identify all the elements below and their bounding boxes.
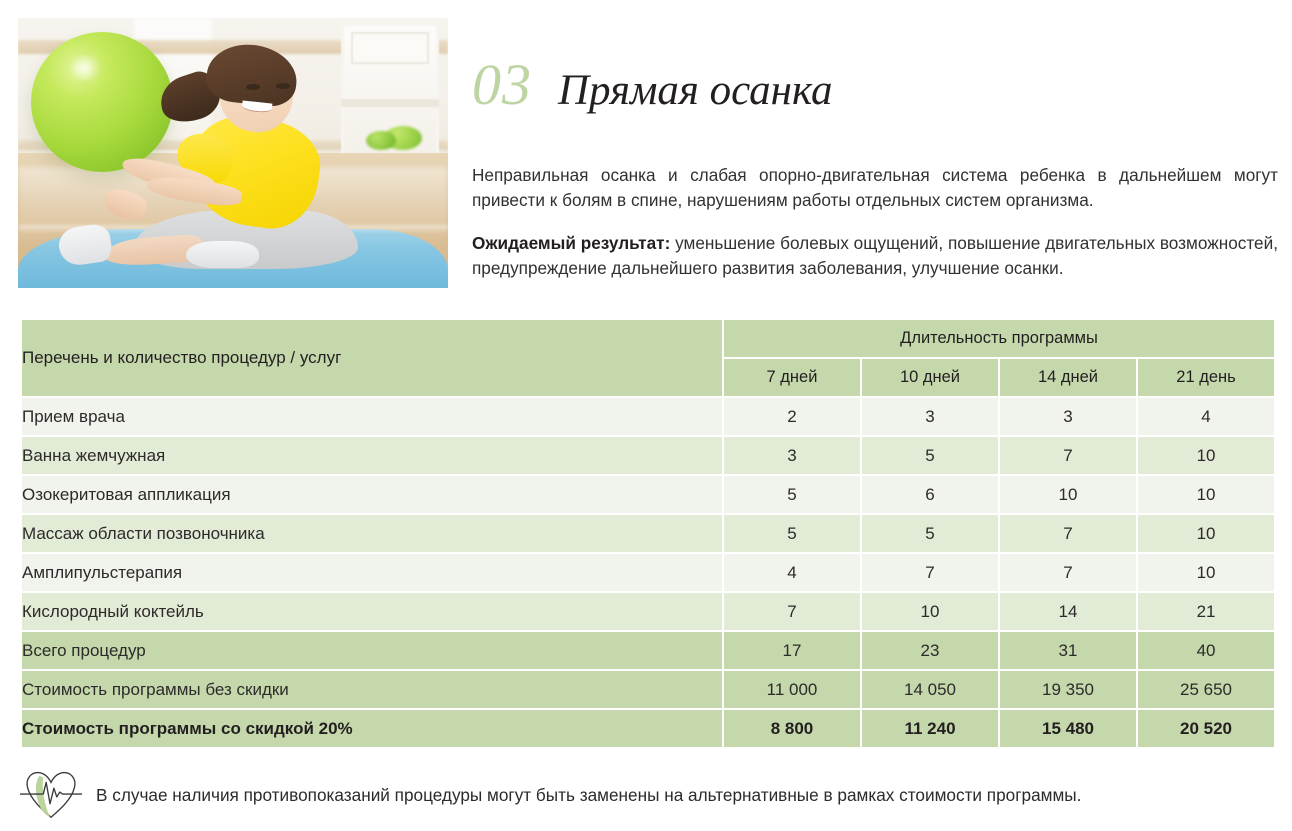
row-value-10: 10 [862,593,998,630]
table-header-col-2: 14 дней [1000,359,1136,396]
row-value-14: 10 [1000,476,1136,513]
table-head: Перечень и количество процедур / услуг Д… [22,320,1274,396]
row-value-10: 14 050 [862,671,998,708]
row-value-14: 7 [1000,515,1136,552]
photo-shelf-divider [341,99,440,107]
row-value-14: 7 [1000,554,1136,591]
footer-note-text: В случае наличия противопоказаний процед… [96,784,1081,806]
row-value-7: 5 [724,515,860,552]
table-row: Массаж области позвоночника 5 5 7 10 [22,515,1274,552]
row-value-21: 10 [1138,515,1274,552]
table-header-col-0: 7 дней [724,359,860,396]
row-value-7: 5 [724,476,860,513]
program-table: Перечень и количество процедур / услуг Д… [20,318,1276,749]
photo-exercise-ball [31,32,173,172]
row-label: Ванна жемчужная [22,437,722,474]
table-row: Ванна жемчужная 3 5 7 10 [22,437,1274,474]
row-value-7: 3 [724,437,860,474]
table-header-col-3: 21 день [1138,359,1274,396]
photo-girl-sock-right [186,241,259,268]
row-label: Стоимость программы со скидкой 20% [22,710,722,747]
row-value-21: 4 [1138,398,1274,435]
table-header-duration-group: Длительность программы [724,320,1274,357]
page-title-row: 03 Прямая осанка [472,56,833,114]
row-value-10: 7 [862,554,998,591]
row-value-10: 3 [862,398,998,435]
row-label: Стоимость программы без скидки [22,671,722,708]
row-value-21: 40 [1138,632,1274,669]
row-value-10: 23 [862,632,998,669]
row-value-7: 17 [724,632,860,669]
table-header-col-1: 10 дней [862,359,998,396]
row-value-10: 5 [862,437,998,474]
row-value-21: 10 [1138,554,1274,591]
photo-storage-box [351,32,428,64]
section-number: 03 [472,56,532,114]
row-value-21: 20 520 [1138,710,1274,747]
table-row-total: Всего процедур 17 23 31 40 [22,632,1274,669]
row-value-21: 21 [1138,593,1274,630]
hero-photo [18,18,448,288]
table-row-price-full: Стоимость программы без скидки 11 000 14… [22,671,1274,708]
row-value-14: 19 350 [1000,671,1136,708]
row-value-7: 11 000 [724,671,860,708]
footer-note: В случае наличия противопоказаний процед… [20,766,1275,824]
row-value-21: 10 [1138,437,1274,474]
row-value-10: 11 240 [862,710,998,747]
table-header-row-group: Перечень и количество процедур / услуг Д… [22,320,1274,357]
table-row: Озокеритовая аппликация 5 6 10 10 [22,476,1274,513]
expected-result-label: Ожидаемый результат: [472,233,670,253]
row-label: Массаж области позвоночника [22,515,722,552]
table-row-price-discount: Стоимость программы со скидкой 20% 8 800… [22,710,1274,747]
row-value-21: 25 650 [1138,671,1274,708]
row-label: Озокеритовая аппликация [22,476,722,513]
row-value-7: 7 [724,593,860,630]
row-value-7: 4 [724,554,860,591]
row-value-21: 10 [1138,476,1274,513]
table-row: Прием врача 2 3 3 4 [22,398,1274,435]
row-label: Всего процедур [22,632,722,669]
intro-paragraph: Неправильная осанка и слабая опорно-двиг… [472,163,1278,213]
heart-pulse-icon [20,766,82,824]
row-value-14: 3 [1000,398,1136,435]
table-row: Кислородный коктейль 7 10 14 21 [22,593,1274,630]
row-value-7: 8 800 [724,710,860,747]
table-body: Прием врача 2 3 3 4 Ванна жемчужная 3 5 … [22,398,1274,747]
table-header-name: Перечень и количество процедур / услуг [22,320,722,396]
photo-girl-eye-right [276,83,290,89]
photo-exercise-ball-highlight [65,56,104,80]
row-value-14: 15 480 [1000,710,1136,747]
row-value-14: 31 [1000,632,1136,669]
row-value-10: 6 [862,476,998,513]
row-value-14: 7 [1000,437,1136,474]
row-label: Прием врача [22,398,722,435]
row-label: Амплипульстерапия [22,554,722,591]
table-row: Амплипульстерапия 4 7 7 10 [22,554,1274,591]
page-title: Прямая осанка [558,69,833,112]
row-value-14: 14 [1000,593,1136,630]
row-label: Кислородный коктейль [22,593,722,630]
row-value-7: 2 [724,398,860,435]
expected-result-paragraph: Ожидаемый результат: уменьшение болевых … [472,231,1278,281]
row-value-10: 5 [862,515,998,552]
